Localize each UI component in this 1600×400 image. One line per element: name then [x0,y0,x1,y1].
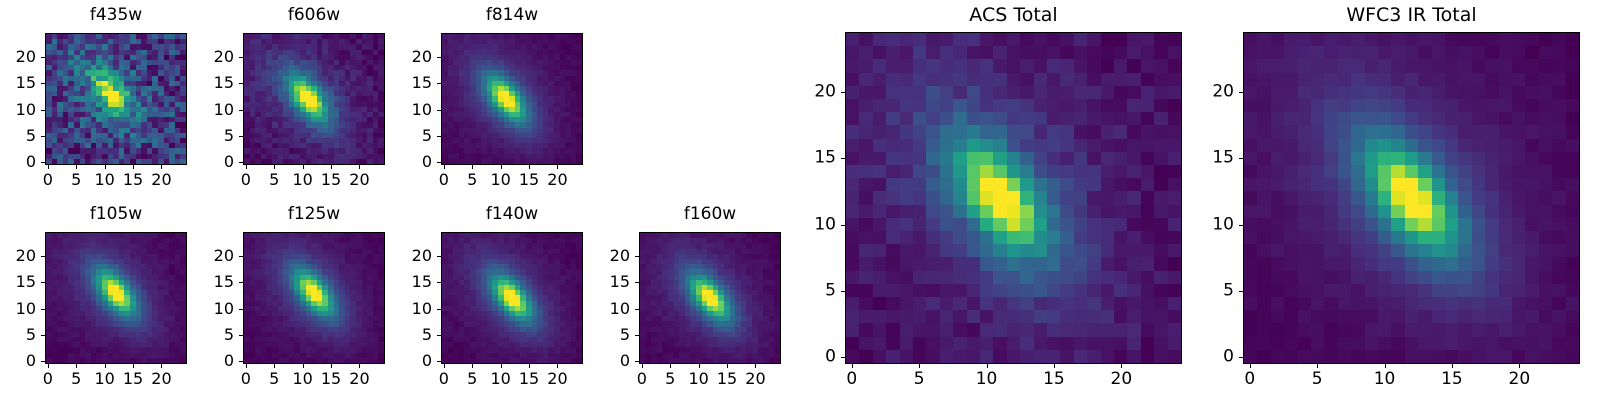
x-tick-label: 5 [467,371,477,387]
x-tick-label: 10 [976,371,998,388]
y-tick-label: 10 [1199,216,1234,233]
y-tick-label: 15 [595,274,630,290]
x-tick-mark [852,364,853,368]
x-tick-label: 0 [241,371,251,387]
x-tick-label: 15 [1043,371,1065,388]
panel-title: WFC3 IR Total [1243,6,1580,25]
x-tick-mark [76,364,77,368]
y-tick-mark [635,256,639,257]
y-tick-label: 0 [1,154,36,170]
x-tick-mark [161,165,162,169]
panel-title: f125w [243,206,385,223]
x-tick-label: 20 [1509,371,1531,388]
panel-wfc3-ir-total: WFC3 IR Total0510152005101520 [1199,6,1596,400]
heatmap-image [441,33,583,165]
x-tick-label: 10 [490,172,510,188]
x-tick-mark [274,165,275,169]
heatmap-image [639,232,781,364]
x-tick-label: 15 [717,371,737,387]
x-tick-mark [1121,364,1122,368]
x-tick-mark [472,364,473,368]
y-tick-label: 5 [199,128,234,144]
x-tick-mark [670,364,671,368]
x-tick-mark [529,364,530,368]
x-tick-label: 5 [665,371,675,387]
y-tick-mark [437,282,441,283]
x-tick-label: 15 [123,172,143,188]
x-tick-label: 0 [637,371,647,387]
x-tick-mark [642,364,643,368]
x-tick-mark [105,364,106,368]
x-tick-label: 0 [846,371,857,388]
x-tick-label: 20 [151,371,171,387]
x-tick-mark [359,165,360,169]
panel-title: f435w [45,7,187,24]
x-tick-mark [274,364,275,368]
x-tick-label: 5 [467,172,477,188]
y-tick-mark [1239,225,1243,226]
x-tick-label: 0 [43,172,53,188]
x-tick-label: 20 [1111,371,1133,388]
panel-title: f814w [441,7,583,24]
x-tick-mark [699,364,700,368]
x-tick-label: 10 [292,172,312,188]
heatmap-image [243,33,385,165]
heatmap-image [45,232,187,364]
y-tick-label: 10 [595,301,630,317]
x-tick-mark [755,364,756,368]
heatmap-image [1243,32,1580,364]
y-tick-mark [437,335,441,336]
x-tick-label: 15 [519,371,539,387]
x-tick-mark [444,165,445,169]
panel-f125w: f125w0510152005101520 [199,206,401,400]
x-tick-label: 15 [123,371,143,387]
y-tick-mark [841,92,845,93]
y-tick-label: 5 [1,327,36,343]
y-tick-label: 10 [199,301,234,317]
y-tick-label: 0 [199,353,234,369]
x-tick-label: 10 [1374,371,1396,388]
y-tick-mark [239,162,243,163]
x-tick-mark [529,165,530,169]
y-tick-mark [437,309,441,310]
x-tick-mark [161,364,162,368]
x-tick-label: 10 [292,371,312,387]
y-tick-label: 10 [397,301,432,317]
x-tick-label: 15 [1441,371,1463,388]
heatmap-image [45,33,187,165]
y-tick-label: 10 [801,216,836,233]
x-tick-mark [48,364,49,368]
y-tick-label: 5 [1,128,36,144]
x-tick-label: 5 [71,172,81,188]
x-tick-label: 5 [269,371,279,387]
figure-canvas: f435w0510152005101520f606w05101520051015… [0,0,1600,400]
panel-f435w: f435w0510152005101520 [1,7,203,201]
x-tick-mark [1519,364,1520,368]
x-tick-mark [919,364,920,368]
y-tick-label: 0 [1199,349,1234,366]
x-tick-mark [1054,364,1055,368]
x-tick-label: 0 [241,172,251,188]
y-tick-label: 20 [199,248,234,264]
x-tick-mark [501,165,502,169]
x-tick-label: 10 [94,371,114,387]
y-tick-mark [841,357,845,358]
x-tick-label: 20 [547,172,567,188]
y-tick-label: 5 [595,327,630,343]
x-tick-mark [1317,364,1318,368]
y-tick-mark [1239,92,1243,93]
x-tick-label: 5 [1312,371,1323,388]
y-tick-label: 5 [397,128,432,144]
x-tick-mark [105,165,106,169]
heatmap-image [441,232,583,364]
y-tick-mark [41,57,45,58]
y-tick-label: 20 [1,49,36,65]
y-tick-mark [41,256,45,257]
y-tick-mark [41,162,45,163]
x-tick-mark [501,364,502,368]
x-tick-label: 20 [547,371,567,387]
y-tick-mark [41,282,45,283]
x-tick-mark [472,165,473,169]
y-tick-mark [41,335,45,336]
y-tick-mark [437,136,441,137]
y-tick-mark [635,335,639,336]
y-tick-label: 10 [397,102,432,118]
y-tick-mark [635,309,639,310]
y-tick-mark [437,110,441,111]
y-tick-label: 20 [801,83,836,100]
y-tick-label: 0 [397,353,432,369]
x-tick-mark [1452,364,1453,368]
y-tick-label: 20 [397,248,432,264]
x-tick-label: 0 [1244,371,1255,388]
panel-title: f606w [243,7,385,24]
y-tick-label: 20 [1199,83,1234,100]
y-tick-mark [437,256,441,257]
x-tick-mark [444,364,445,368]
x-tick-label: 20 [745,371,765,387]
x-tick-label: 10 [490,371,510,387]
y-tick-mark [41,83,45,84]
y-tick-mark [635,282,639,283]
x-tick-label: 10 [688,371,708,387]
x-tick-label: 10 [94,172,114,188]
y-tick-mark [41,136,45,137]
x-tick-mark [359,364,360,368]
x-tick-label: 0 [439,172,449,188]
y-tick-mark [239,335,243,336]
y-tick-label: 5 [1199,282,1234,299]
x-tick-mark [133,165,134,169]
y-tick-mark [841,158,845,159]
panel-f105w: f105w0510152005101520 [1,206,203,400]
y-tick-mark [41,309,45,310]
y-tick-mark [239,57,243,58]
panel-f814w: f814w0510152005101520 [397,7,599,201]
panel-f160w: f160w0510152005101520 [595,206,797,400]
x-tick-label: 20 [151,172,171,188]
y-tick-label: 15 [1,75,36,91]
y-tick-mark [239,309,243,310]
panel-title: ACS Total [845,6,1182,25]
y-tick-label: 20 [199,49,234,65]
x-tick-label: 15 [321,371,341,387]
y-tick-label: 10 [1,301,36,317]
x-tick-mark [557,364,558,368]
y-tick-label: 10 [199,102,234,118]
y-tick-label: 15 [801,150,836,167]
x-tick-label: 15 [321,172,341,188]
panel-title: f160w [639,206,781,223]
y-tick-label: 10 [1,102,36,118]
y-tick-mark [437,361,441,362]
x-tick-mark [303,364,304,368]
x-tick-label: 15 [519,172,539,188]
panel-title: f140w [441,206,583,223]
y-tick-mark [1239,158,1243,159]
y-tick-label: 0 [1,353,36,369]
y-tick-mark [41,361,45,362]
panel-f140w: f140w0510152005101520 [397,206,599,400]
x-tick-label: 5 [914,371,925,388]
y-tick-mark [635,361,639,362]
y-tick-mark [1239,357,1243,358]
y-tick-mark [239,282,243,283]
x-tick-mark [557,165,558,169]
y-tick-label: 0 [595,353,630,369]
x-tick-label: 20 [349,172,369,188]
y-tick-label: 15 [397,274,432,290]
heatmap-image [845,32,1182,364]
heatmap-image [243,232,385,364]
x-tick-mark [48,165,49,169]
y-tick-label: 20 [397,49,432,65]
y-tick-mark [239,361,243,362]
x-tick-label: 5 [71,371,81,387]
x-tick-mark [133,364,134,368]
y-tick-mark [239,110,243,111]
y-tick-label: 20 [595,248,630,264]
x-tick-label: 5 [269,172,279,188]
x-tick-label: 0 [439,371,449,387]
y-tick-label: 15 [397,75,432,91]
y-tick-label: 5 [199,327,234,343]
y-tick-label: 0 [397,154,432,170]
x-tick-mark [1250,364,1251,368]
y-tick-label: 15 [199,75,234,91]
x-tick-mark [303,165,304,169]
y-tick-label: 5 [397,327,432,343]
y-tick-mark [1239,291,1243,292]
x-tick-mark [1385,364,1386,368]
x-tick-mark [987,364,988,368]
y-tick-label: 15 [1199,150,1234,167]
panel-f606w: f606w0510152005101520 [199,7,401,201]
y-tick-label: 20 [1,248,36,264]
y-tick-mark [239,83,243,84]
y-tick-mark [841,225,845,226]
y-tick-mark [437,162,441,163]
panel-title: f105w [45,206,187,223]
y-tick-mark [239,136,243,137]
y-tick-label: 15 [199,274,234,290]
x-tick-mark [246,364,247,368]
panel-acs-total: ACS Total0510152005101520 [801,6,1198,400]
y-tick-label: 15 [1,274,36,290]
y-tick-label: 5 [801,282,836,299]
y-tick-mark [41,110,45,111]
y-tick-label: 0 [801,349,836,366]
y-tick-mark [239,256,243,257]
x-tick-mark [727,364,728,368]
x-tick-label: 0 [43,371,53,387]
x-tick-mark [76,165,77,169]
y-tick-mark [437,57,441,58]
y-tick-label: 0 [199,154,234,170]
x-tick-mark [331,165,332,169]
y-tick-mark [841,291,845,292]
x-tick-mark [246,165,247,169]
x-tick-label: 20 [349,371,369,387]
y-tick-mark [437,83,441,84]
x-tick-mark [331,364,332,368]
